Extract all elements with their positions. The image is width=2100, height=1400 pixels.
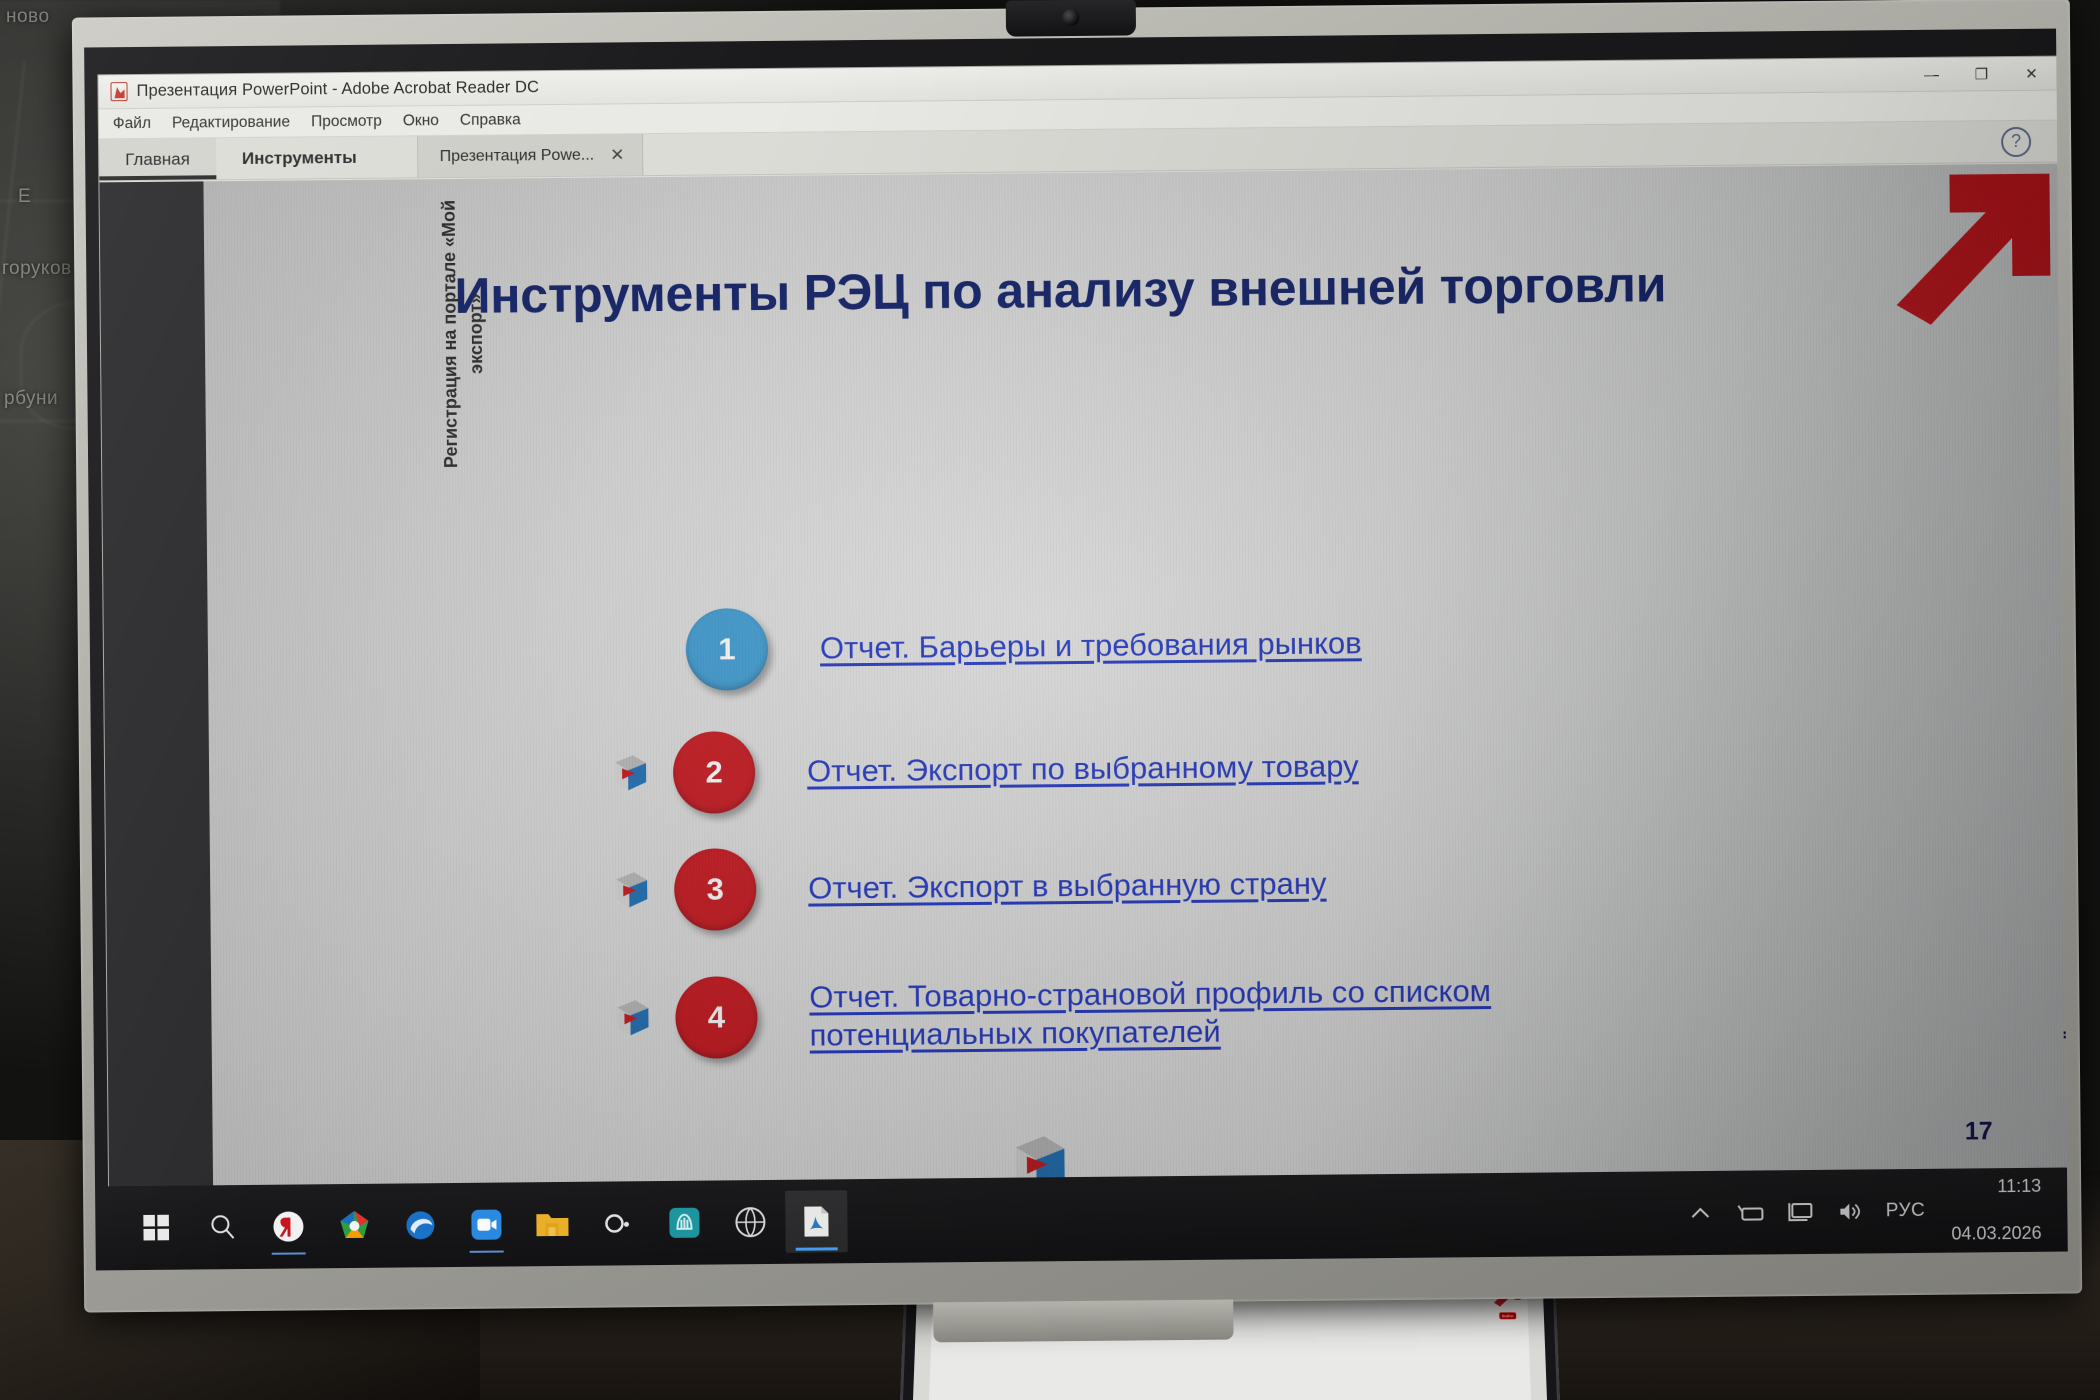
language-indicator[interactable]: РУС xyxy=(1886,1200,1926,1222)
acrobat-icon xyxy=(110,82,127,101)
step-number-badge: 3 xyxy=(674,848,757,931)
step-number-badge: 4 xyxy=(675,976,758,1059)
edge-browser-icon[interactable] xyxy=(389,1194,452,1257)
display-icon[interactable] xyxy=(1786,1199,1816,1225)
minimize-button[interactable]: — xyxy=(1906,58,1956,92)
camera-icon[interactable] xyxy=(587,1192,650,1255)
monitor-screen: Презентация PowerPoint - Adobe Acrobat R… xyxy=(84,29,2068,1271)
taskbar-icons xyxy=(95,1190,848,1259)
windows-start-icon[interactable] xyxy=(125,1197,188,1260)
menu-item-view[interactable]: Просмотр xyxy=(311,112,382,131)
teal-app-icon[interactable] xyxy=(653,1191,716,1254)
tab-tools[interactable]: Инструменты xyxy=(216,137,383,180)
myexport-logo-icon xyxy=(614,869,660,911)
monitor: Презентация PowerPoint - Adobe Acrobat R… xyxy=(72,0,2082,1313)
monitor-stand xyxy=(933,1300,1233,1343)
window-controls: — ❐ ✕ xyxy=(1906,57,2056,92)
vertical-label-left: Регистрация на портале «Мой экспорт» xyxy=(436,199,491,469)
acrobat-reader-icon[interactable] xyxy=(785,1190,848,1253)
video-conference-icon[interactable] xyxy=(455,1193,518,1256)
report-link[interactable]: Отчет. Экспорт по выбранному товару xyxy=(807,747,1359,791)
webcam xyxy=(1006,0,1136,37)
page-number: 17 xyxy=(1965,1117,1993,1146)
menu-item-help[interactable]: Справка xyxy=(460,111,521,130)
chrome-browser-icon[interactable] xyxy=(323,1195,386,1258)
step-number-badge: 2 xyxy=(673,731,756,814)
search-icon[interactable] xyxy=(191,1196,254,1259)
step-number: 4 xyxy=(708,999,726,1035)
report-link[interactable]: Отчет. Барьеры и требования рынков xyxy=(820,624,1362,668)
document-viewer[interactable]: Инструменты РЭЦ по анализу внешней торго… xyxy=(99,164,2067,1187)
myexport-logo-icon xyxy=(615,997,661,1039)
chevron-up-icon[interactable] xyxy=(1686,1200,1716,1226)
map-label-3: рбуни xyxy=(4,388,58,410)
volume-icon[interactable] xyxy=(1836,1198,1866,1224)
tab-document-label: Презентация Powe... xyxy=(440,146,595,165)
report-link[interactable]: Отчет. Товарно-страновой профиль со спис… xyxy=(809,972,1491,1055)
clock[interactable]: 11:13 04.03.2026 xyxy=(1945,1152,2042,1268)
globe-app-icon[interactable] xyxy=(719,1191,782,1254)
clock-date: 04.03.2026 xyxy=(1951,1221,2041,1245)
window-title: Презентация PowerPoint - Adobe Acrobat R… xyxy=(136,78,539,101)
menu-item-file[interactable]: Файл xyxy=(113,114,151,132)
step-number: 2 xyxy=(705,754,723,790)
clock-time: 11:13 xyxy=(1951,1175,2041,1199)
map-label-2: горуков xyxy=(2,258,72,280)
acrobat-reader-window: Презентация PowerPoint - Adobe Acrobat R… xyxy=(98,57,2067,1187)
list-item[interactable]: 1 Отчет. Барьеры и требования рынков xyxy=(686,602,1362,690)
page-title: Инструменты РЭЦ по анализу внешней торго… xyxy=(454,255,1666,325)
list-item[interactable]: 2 Отчет. Экспорт по выбранному товару xyxy=(613,725,1359,814)
close-icon[interactable]: ✕ xyxy=(610,145,624,165)
step-number: 1 xyxy=(718,631,736,667)
yandex-browser-icon[interactable] xyxy=(257,1195,320,1258)
report-link[interactable]: Отчет. Экспорт в выбранную страну xyxy=(808,864,1327,907)
windows-desktop: Презентация PowerPoint - Adobe Acrobat R… xyxy=(84,29,2068,1271)
close-button[interactable]: ✕ xyxy=(2006,57,2056,91)
map-label-1: Е xyxy=(18,186,31,208)
laptop-login-badge: Войти xyxy=(1499,1312,1516,1319)
menu-item-window[interactable]: Окно xyxy=(403,112,439,130)
help-icon[interactable]: ? xyxy=(2001,126,2031,156)
slide-canvas: Инструменты РЭЦ по анализу внешней торго… xyxy=(203,164,2067,1186)
myexport-logo-icon xyxy=(613,752,659,794)
tab-home[interactable]: Главная xyxy=(99,138,216,180)
tab-document[interactable]: Презентация Powe... ✕ xyxy=(417,134,644,177)
webcam-lens-icon xyxy=(1062,9,1079,26)
file-explorer-icon[interactable] xyxy=(521,1193,584,1256)
red-arrow-icon xyxy=(1887,164,2059,326)
list-item[interactable]: 3 Отчет. Экспорт в выбранную страну xyxy=(614,843,1327,932)
list-item[interactable]: 4 Отчет. Товарно-страновой профиль со сп… xyxy=(615,969,1491,1059)
map-label-0: ново xyxy=(6,6,50,28)
maximize-button[interactable]: ❐ xyxy=(1956,57,2006,91)
menu-item-edit[interactable]: Редактирование xyxy=(172,113,290,132)
pen-tablet-icon[interactable] xyxy=(1736,1199,1766,1225)
step-number-badge: 1 xyxy=(686,608,769,691)
step-number: 3 xyxy=(706,871,724,907)
